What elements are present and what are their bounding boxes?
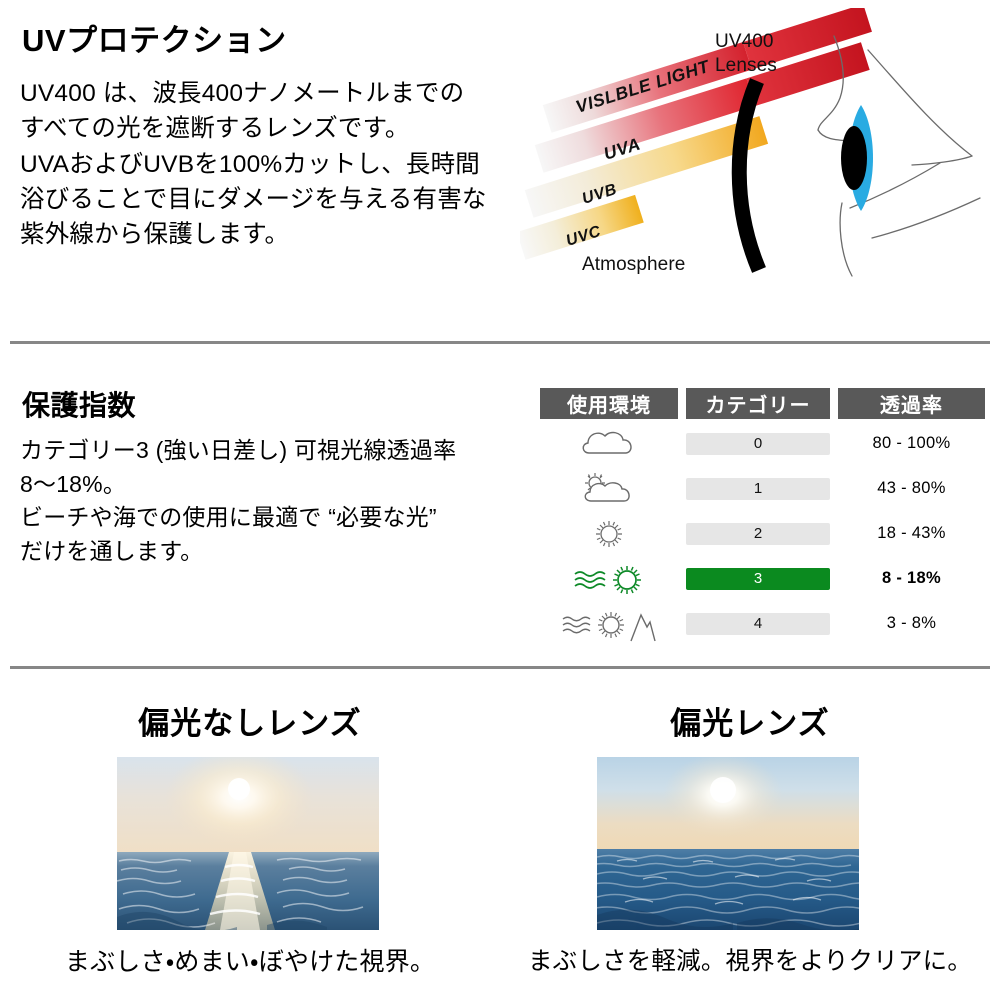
waves-sun-mountain-icon [561,605,657,643]
table-cell-transmittance: 43 - 80% [838,479,985,498]
sun-icon [589,516,629,552]
uv400-lens-diagram: VISLBLE LIGHT UVA UVB UVC [520,8,1000,318]
table-cell-category: 2 [686,523,830,545]
waves-sun-icon [571,561,647,597]
uv400-label-line1: UV400 [715,30,777,54]
table-row-active: 3 8 - 18% [540,558,985,599]
panel-polarized: 偏光レンズ [500,690,1000,1000]
photo-svg [597,757,859,930]
protection-body-line: だけを通します。 [20,535,530,569]
uv-body-line: UV400 は、波長400ナノメートルまでの [20,76,520,111]
section-uv-title: UVプロテクション [22,24,287,58]
eye-pupil [841,126,867,190]
table-row: 1 43 - 80% [540,468,985,509]
category-pill-active: 3 [686,568,830,590]
panel-title: 偏光レンズ [500,698,1000,743]
table-cell-category: 4 [686,613,830,635]
table-cell-environment [540,471,678,507]
atmosphere-label: Atmosphere [582,253,685,277]
protection-body-line: ビーチや海での使用に最適で “必要な光” [20,501,530,535]
protection-body-line: カテゴリー3 (強い日差し) 可視光線透過率 [20,434,530,468]
table-cell-transmittance: 3 - 8% [838,614,985,633]
panel-title: 偏光なしレンズ [0,698,500,743]
table-header-transmittance: 透過率 [838,388,985,419]
table-cell-category: 0 [686,433,830,455]
section-protection-body: カテゴリー3 (強い日差し) 可視光線透過率 8〜18%。 ビーチや海での使用に… [20,434,530,568]
section-protection-title: 保護指数 [22,384,136,424]
table-cell-transmittance: 80 - 100% [838,434,985,453]
panel-caption: まぶしさを軽減。視界をよりクリアに。 [500,942,1000,977]
table-cell-environment [540,516,678,552]
section-divider [10,666,990,669]
photo-svg [117,757,379,930]
uv-body-line: 浴びることで目にダメージを与える有害な [20,182,520,217]
table-row: 2 18 - 43% [540,513,985,554]
uv-protection-infographic: UVプロテクション UV400 は、波長400ナノメートルまでの すべての光を遮… [0,0,1000,1000]
uv-body-line: 紫外線から保護します。 [20,217,520,252]
uv-body-line: UVAおよびUVBを100%カットし、長時間 [20,147,520,182]
section-divider [10,341,990,344]
table-row: 4 3 - 8% [540,603,985,644]
category-pill: 4 [686,613,830,635]
ocean-with-glare-photo [117,757,379,930]
category-pill: 2 [686,523,830,545]
panel-non-polarized: 偏光なしレンズ [0,690,500,1000]
section-uv-body: UV400 は、波長400ナノメートルまでの すべての光を遮断するレンズです。 … [20,76,520,252]
table-cell-transmittance: 8 - 18% [838,569,985,588]
uv-body-line: すべての光を遮断するレンズです。 [20,111,520,146]
table-header-row: 使用環境 カテゴリー 透過率 [540,388,985,419]
category-pill: 0 [686,433,830,455]
table-cell-environment [540,427,678,461]
table-cell-environment [540,605,678,643]
table-cell-transmittance: 18 - 43% [838,524,985,543]
uv400-lens-arc [739,81,759,270]
table-cell-category: 3 [686,568,830,590]
table-cell-category: 1 [686,478,830,500]
uv400-lens-label: UV400 Lenses [715,30,777,79]
panel-caption: まぶしさ・めまい・ぼやけた視界。 [0,942,500,978]
uv400-label-line2: Lenses [715,54,777,78]
protection-body-line: 8〜18%。 [20,468,530,502]
table-header-category: カテゴリー [686,388,830,419]
sun-behind-cloud-icon [578,471,640,507]
cloud-icon [579,427,639,461]
table-header-environment: 使用環境 [540,388,678,419]
category-pill: 1 [686,478,830,500]
table-row: 0 80 - 100% [540,423,985,464]
ocean-clear-photo [597,757,859,930]
category-table: 使用環境 カテゴリー 透過率 0 80 - 100% [540,388,985,644]
table-cell-environment [540,561,678,597]
